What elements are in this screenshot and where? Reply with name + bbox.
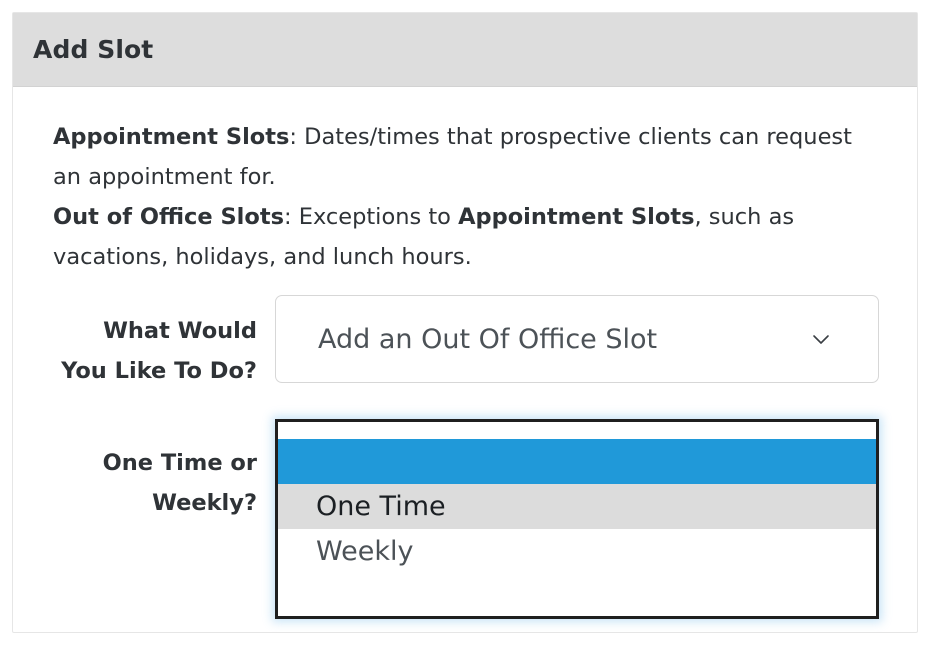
dropdown-one-time-or-weekly: One Time Weekly xyxy=(275,419,879,619)
dropdown-listbox-one-time-or-weekly[interactable]: One Time Weekly xyxy=(275,419,879,619)
dropdown-option-weekly[interactable]: Weekly xyxy=(278,529,876,574)
select-what-would-you-like-to-do-value: Add an Out Of Office Slot xyxy=(318,324,657,355)
appointment-slots-term: Appointment Slots xyxy=(53,124,289,150)
out-of-office-definition-part1: : Exceptions to xyxy=(284,204,458,230)
chevron-down-icon[interactable] xyxy=(810,328,832,350)
select-what-would-you-like-to-do[interactable]: Add an Out Of Office Slot xyxy=(275,295,879,383)
form-row-what-would-you-like-to-do: What Would You Like To Do? Add an Out Of… xyxy=(53,295,895,391)
page-title: Add Slot xyxy=(33,35,153,64)
form-row-one-time-or-weekly: One Time or Weekly? One Time Weekly xyxy=(53,425,895,523)
label-one-time-or-weekly: One Time or Weekly? xyxy=(53,425,275,523)
out-of-office-slots-term: Out of Office Slots xyxy=(53,204,284,230)
card-body: Appointment Slots: Dates/times that pros… xyxy=(13,87,917,523)
appointment-slots-term-inline: Appointment Slots xyxy=(458,204,694,230)
dropdown-top-padding xyxy=(278,422,876,439)
add-slot-card: Add Slot Appointment Slots: Dates/times … xyxy=(12,12,918,633)
control-what-would-you-like-to-do: Add an Out Of Office Slot xyxy=(275,295,895,383)
dropdown-option-blank[interactable] xyxy=(278,439,876,484)
dropdown-option-one-time[interactable]: One Time xyxy=(278,484,876,529)
label-what-would-you-like-to-do: What Would You Like To Do? xyxy=(53,295,275,391)
slot-description: Appointment Slots: Dates/times that pros… xyxy=(53,117,883,277)
dropdown-bottom-padding xyxy=(278,574,876,616)
card-header: Add Slot xyxy=(13,13,917,87)
